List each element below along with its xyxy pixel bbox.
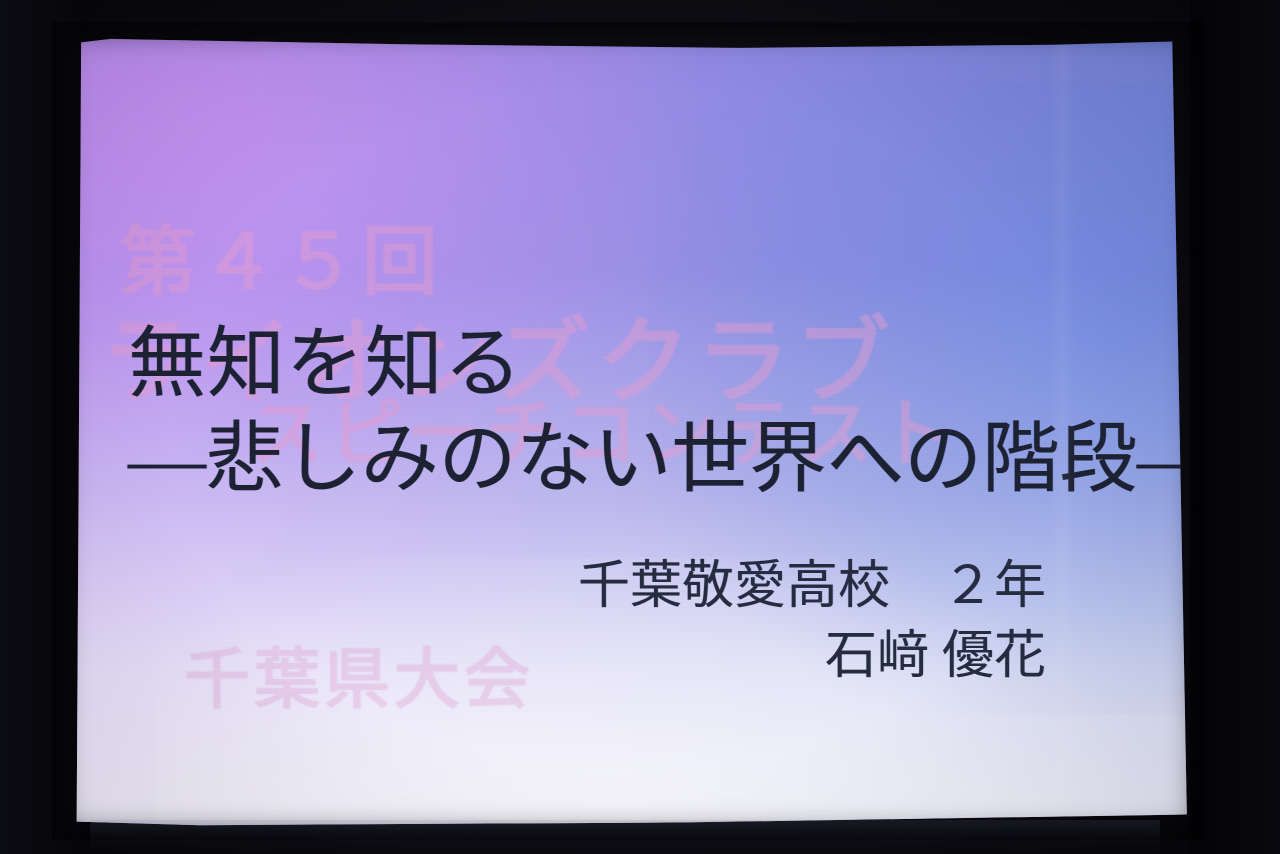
room-wall-right (1190, 0, 1280, 854)
slide-title-main: 無知を知る (128, 322, 1168, 405)
slide-content: 無知を知る ―悲しみのない世界への階段― 千葉敬愛高校 ２年 石﨑 優花 (66, 34, 1188, 826)
photo-frame: 第４５回 ライオンズクラブ スピーチコンテスト 千葉県大会 無知を知る ―悲しみ… (0, 0, 1280, 854)
floor-light-spill (90, 820, 1160, 854)
attribution-school-and-grade: 千葉敬愛高校 ２年 (578, 552, 1046, 622)
attribution-speaker-name: 石﨑 優花 (578, 622, 1046, 692)
slide-title-subtitle: ―悲しみのない世界への階段― (128, 417, 1168, 500)
slide-title-block: 無知を知る ―悲しみのない世界への階段― (128, 322, 1168, 501)
room-wall-left (0, 0, 90, 854)
slide-attribution-block: 千葉敬愛高校 ２年 石﨑 優花 (578, 552, 1046, 691)
projection-screen: 第４５回 ライオンズクラブ スピーチコンテスト 千葉県大会 無知を知る ―悲しみ… (66, 34, 1188, 826)
